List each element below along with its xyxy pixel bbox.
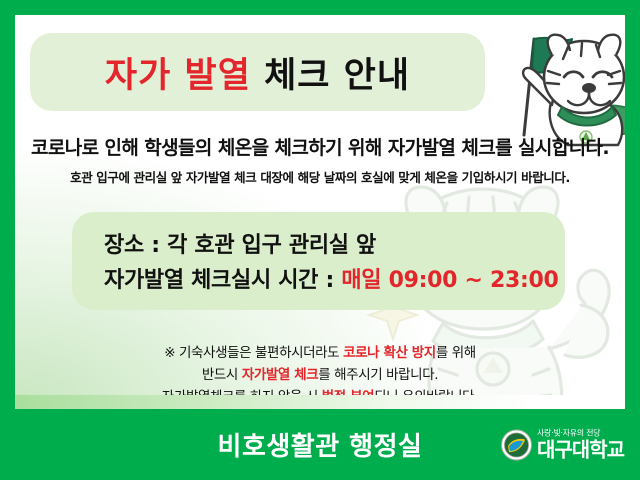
gradient-divider [15, 395, 625, 409]
note-line-2: 반드시 자가발열 체크를 해주시기 바랍니다. [15, 365, 625, 387]
university-tagline: 사랑·빛·자유의 전당 [537, 430, 624, 438]
note-1-segment-2: 코로나 확산 방지 [343, 345, 436, 361]
university-name: 대구대학교 [537, 440, 624, 460]
note-2-segment-1: 반드시 [202, 367, 242, 383]
poster-root: 자가 발열 체크 안내 [0, 0, 640, 480]
info-time-line: 자가발열 체크실시 시간 : 매일 09:00 ~ 23:00 [104, 264, 565, 299]
note-1-segment-1: ※ 기숙사생들은 불편하시더라도 [164, 345, 343, 361]
page-title-rest: 체크 안내 [251, 55, 410, 96]
title-box: 자가 발열 체크 안내 [30, 33, 485, 111]
note-2-segment-3: 를 해주시기 바랍니다. [318, 367, 438, 383]
footer-office-name: 비호생활관 행정실 [218, 426, 423, 463]
note-line-1: ※ 기숙사생들은 불편하시더라도 코로나 확산 방지를 위해 [15, 343, 625, 365]
info-time-label: 자가발열 체크실시 시간 : [104, 268, 341, 293]
note-2-segment-2: 자가발열 체크 [242, 367, 318, 383]
page-title: 자가 발열 체크 안내 [105, 47, 410, 98]
footer-bar: 비호생활관 행정실 사랑·빛·자유의 전당 대구대학교 [0, 409, 640, 480]
info-place-line: 장소 : 각 호관 입구 관리실 앞 [104, 229, 565, 264]
poster-canvas: 자가 발열 체크 안내 [15, 15, 625, 409]
subheadline-text: 호관 입구에 관리실 앞 자가발열 체크 대장에 해당 날짜의 호실에 맞게 체… [15, 167, 625, 186]
info-time-value: 매일 09:00 ~ 23:00 [341, 268, 558, 293]
university-emblem-icon [501, 429, 532, 460]
info-box: 장소 : 각 호관 입구 관리실 앞 자가발열 체크실시 시간 : 매일 09:… [72, 212, 565, 310]
page-title-highlight: 자가 발열 [105, 55, 251, 96]
university-brand-text: 사랑·빛·자유의 전당 대구대학교 [537, 430, 624, 460]
university-brand: 사랑·빛·자유의 전당 대구대학교 [501, 429, 624, 460]
headline-text: 코로나로 인해 학생들의 체온을 체크하기 위해 자가발열 체크를 실시합니다. [15, 133, 625, 160]
note-1-segment-3: 를 위해 [436, 345, 476, 361]
